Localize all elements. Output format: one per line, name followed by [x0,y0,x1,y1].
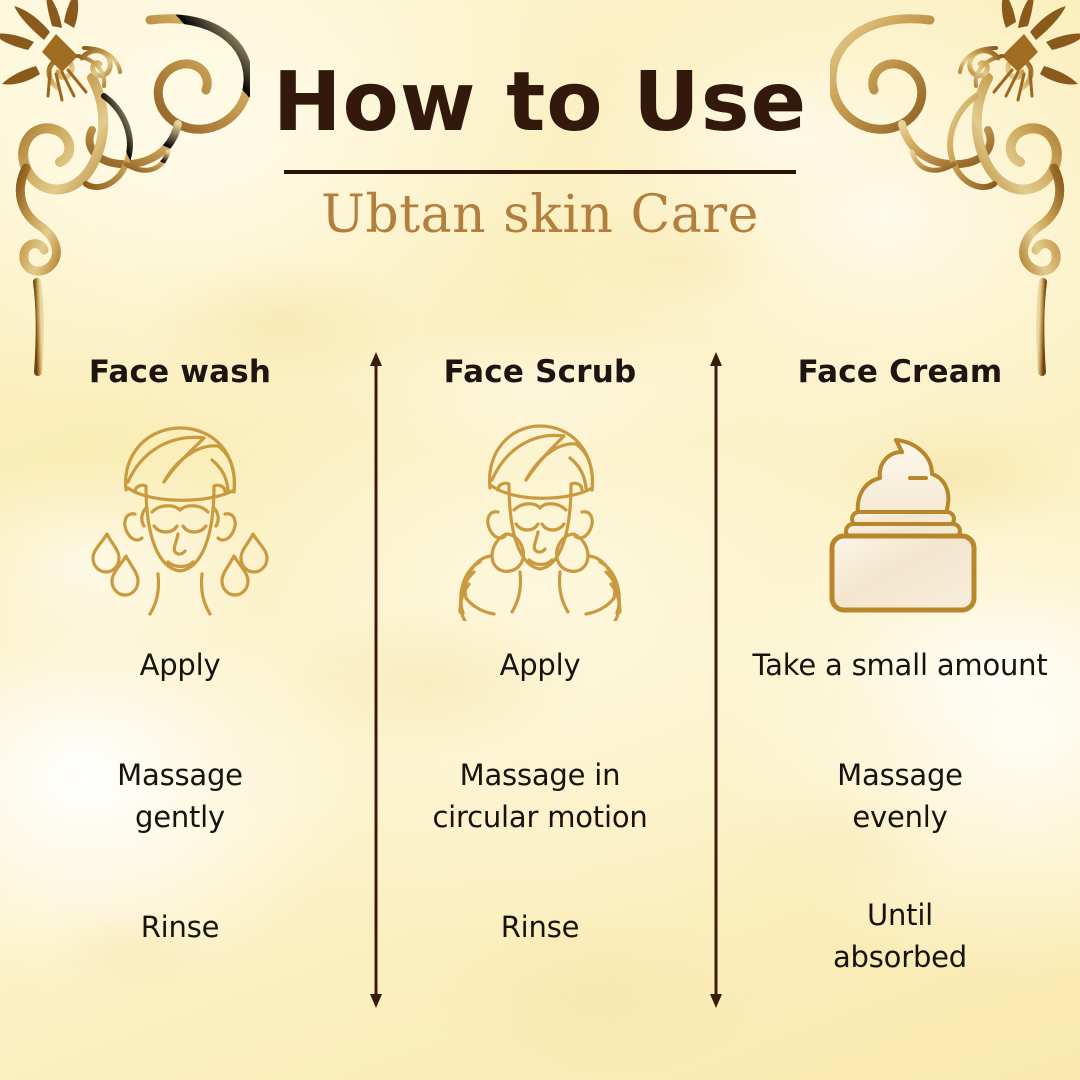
step-text: Take a small amount [720,644,1080,686]
column-heading-face-wash: Face wash [0,352,360,392]
title-underline-rule [284,170,796,174]
icon-face-scrub-wrap [360,404,720,632]
face-with-towel-and-water-drops-icon [80,416,280,621]
step-text: absorbed [720,936,1080,978]
poster-canvas: How to Use Ubtan skin Care Face wash [0,0,1080,1080]
steps-face-scrub: Apply Massage in circular motion Rinse [360,644,720,948]
step-text: Apply [360,644,720,686]
face-with-massaging-hands-icon [440,416,640,621]
step-text: Massage [720,754,1080,796]
step-text: Apply [0,644,360,686]
step-text: evenly [720,796,1080,838]
icon-face-cream-wrap [720,404,1080,632]
step-text: Massage [0,754,360,796]
step-text: circular motion [360,796,720,838]
page-subtitle: Ubtan skin Care [0,188,1080,243]
column-face-cream: Face Cream [720,352,1080,1012]
steps-columns: Face wash [0,352,1080,1012]
icon-face-wash-wrap [0,404,360,632]
steps-face-cream: Take a small amount Massage evenly Until… [720,644,1080,978]
step-text: Until [720,894,1080,936]
step-text: Rinse [0,906,360,948]
column-heading-face-scrub: Face Scrub [360,352,720,392]
column-face-wash: Face wash [0,352,360,1012]
poster-header: How to Use Ubtan skin Care [0,62,1080,243]
step-text: Rinse [360,906,720,948]
column-heading-face-cream: Face Cream [720,352,1080,392]
cream-jar-icon [800,416,1000,621]
column-face-scrub: Face Scrub [360,352,720,1012]
steps-face-wash: Apply Massage gently Rinse [0,644,360,948]
step-text: Massage in [360,754,720,796]
page-title: How to Use [0,62,1080,144]
step-text: gently [0,796,360,838]
